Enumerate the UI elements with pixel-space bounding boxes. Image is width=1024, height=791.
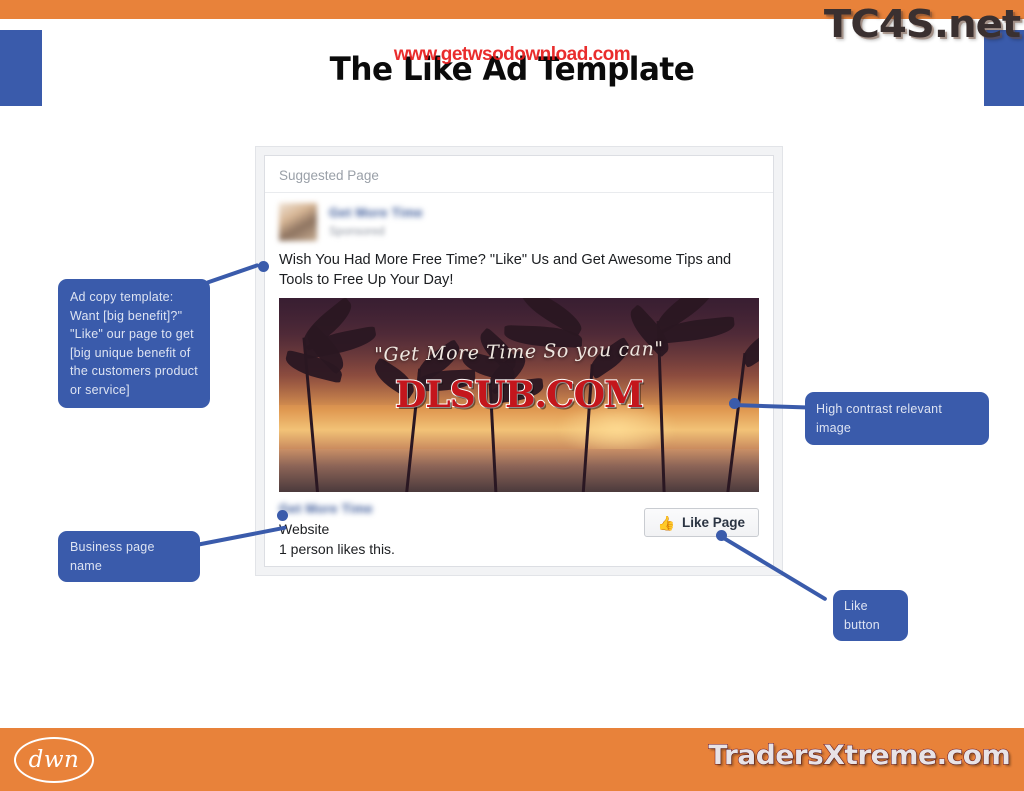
connector-dot-adcopy	[258, 261, 269, 272]
ad-hero-image[interactable]: "Get More Time So you can" DLSUB.COM	[279, 298, 759, 492]
bottom-orange-bar: dwn TradersXtreme.com	[0, 728, 1024, 791]
ad-card-inner: Suggested Page Get More Time Sponsored W…	[264, 155, 774, 567]
callout-high-contrast-image: High contrast relevant image	[805, 392, 989, 445]
facebook-ad-card: Suggested Page Get More Time Sponsored W…	[255, 146, 783, 576]
callout-ad-copy-template: Ad copy template: Want [big benefit]?" "…	[58, 279, 210, 408]
connector-line-adcopy	[205, 263, 259, 285]
suggested-page-label: Suggested Page	[265, 156, 773, 193]
tradersxtreme-logo: TradersXtreme.com	[708, 740, 1010, 771]
website-label: Website	[279, 519, 395, 539]
callout-business-page-name: Business page name	[58, 531, 200, 582]
page-avatar	[279, 203, 317, 241]
thumbs-up-icon: 👍	[658, 516, 675, 530]
tc4s-logo: TC4S.net	[824, 2, 1020, 46]
ad-footer-left: Get More Time Website 1 person likes thi…	[279, 501, 395, 560]
dwn-logo: dwn	[14, 737, 94, 783]
page-name-blurred[interactable]: Get More Time	[329, 205, 423, 220]
hero-watermark: DLSUB.COM	[279, 374, 759, 416]
connector-dot-image	[729, 398, 740, 409]
sponsored-label-blurred: Sponsored	[329, 226, 423, 238]
connector-dot-bizname	[277, 510, 288, 521]
ad-header: Get More Time Sponsored	[265, 193, 773, 247]
connector-dot-like	[716, 530, 727, 541]
slide-canvas: TC4S.net The Like Ad Template www.getwso…	[0, 0, 1024, 791]
footer-page-name-blurred[interactable]: Get More Time	[279, 501, 395, 516]
like-page-button-label: Like Page	[682, 515, 745, 530]
ad-footer: Get More Time Website 1 person likes thi…	[265, 492, 773, 572]
watermark-url: www.getwsodownload.com	[0, 44, 1024, 66]
sea-band	[279, 449, 759, 492]
ad-copy-text: Wish You Had More Free Time? "Like" Us a…	[265, 247, 773, 298]
like-page-button[interactable]: 👍 Like Page	[644, 508, 759, 537]
callout-like-button: Like button	[833, 590, 908, 641]
ad-header-text: Get More Time Sponsored	[329, 203, 423, 238]
likes-count-text: 1 person likes this.	[279, 539, 395, 559]
